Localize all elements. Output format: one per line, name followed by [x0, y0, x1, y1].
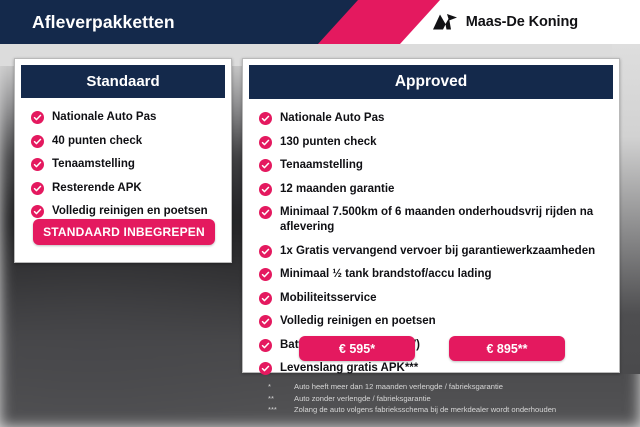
standard-included-button[interactable]: STANDAARD INBEGREPEN: [33, 219, 215, 245]
maas-de-koning-m-logo-icon: [432, 13, 458, 31]
feature-label: Resterende APK: [52, 181, 142, 196]
list-item: Levenslang gratis APK***: [259, 361, 619, 376]
list-item: Mobiliteitsservice: [259, 291, 619, 306]
check-icon: [259, 112, 272, 125]
list-item: Volledig reinigen en poetsen: [31, 204, 231, 219]
list-item: Tenaamstelling: [31, 157, 231, 172]
feature-label: Nationale Auto Pas: [52, 110, 156, 125]
brand-name: Maas-De Koning: [466, 14, 578, 30]
check-icon: [259, 183, 272, 196]
price-button-895[interactable]: € 895**: [449, 336, 565, 361]
list-item: 12 maanden garantie: [259, 182, 619, 197]
footnote-row: * Auto heeft meer dan 12 maanden verleng…: [268, 381, 628, 393]
price-button-595[interactable]: € 595*: [299, 336, 415, 361]
footnote-row: ** Auto zonder verlengde / fabrieksgaran…: [268, 393, 628, 405]
feature-label: Levenslang gratis APK***: [280, 361, 418, 376]
check-icon: [31, 205, 44, 218]
check-icon: [259, 206, 272, 219]
feature-label: Tenaamstelling: [52, 157, 135, 172]
list-item: Volledig reinigen en poetsen: [259, 314, 619, 329]
approved-card-title: Approved: [249, 65, 613, 99]
brand-lockup: Maas-De Koning: [432, 0, 578, 44]
list-item: Nationale Auto Pas: [259, 111, 619, 126]
list-item: Resterende APK: [31, 181, 231, 196]
feature-label: Nationale Auto Pas: [280, 111, 384, 126]
list-item: 130 punten check: [259, 135, 619, 150]
check-icon: [31, 158, 44, 171]
footnote-marker: *: [268, 381, 294, 393]
feature-label: 40 punten check: [52, 134, 142, 149]
footnote-marker: **: [268, 393, 294, 405]
check-icon: [259, 136, 272, 149]
list-item: Minimaal ½ tank brandstof/accu lading: [259, 267, 619, 282]
feature-label: 1x Gratis vervangend vervoer bij garanti…: [280, 244, 595, 259]
check-icon: [259, 292, 272, 305]
check-icon: [259, 268, 272, 281]
list-item: 1x Gratis vervangend vervoer bij garanti…: [259, 244, 619, 259]
check-icon: [259, 315, 272, 328]
list-item: Minimaal 7.500km of 6 maanden onderhouds…: [259, 205, 619, 235]
footnote-text: Auto zonder verlengde / fabrieksgarantie: [294, 393, 431, 405]
check-icon: [31, 111, 44, 124]
approved-package-card: Approved Nationale Auto Pas 130 punten c…: [242, 58, 620, 373]
feature-label: Mobiliteitsservice: [280, 291, 377, 306]
list-item: Nationale Auto Pas: [31, 110, 231, 125]
feature-label: 12 maanden garantie: [280, 182, 394, 197]
price-button-row: € 595* € 895**: [243, 336, 621, 361]
feature-label: Tenaamstelling: [280, 158, 363, 173]
list-item: 40 punten check: [31, 134, 231, 149]
feature-label: 130 punten check: [280, 135, 377, 150]
feature-label: Volledig reinigen en poetsen: [280, 314, 436, 329]
check-icon: [259, 245, 272, 258]
standard-package-card: Standaard Nationale Auto Pas 40 punten c…: [14, 58, 232, 263]
standard-feature-list: Nationale Auto Pas 40 punten check Tenaa…: [31, 110, 231, 219]
feature-label: Minimaal ½ tank brandstof/accu lading: [280, 267, 492, 282]
page-root: Afleverpakketten Maas-De Koning Standaar…: [0, 0, 640, 427]
check-icon: [259, 362, 272, 375]
footnote-block: * Auto heeft meer dan 12 maanden verleng…: [268, 381, 628, 416]
footnote-marker: ***: [268, 404, 294, 416]
standard-card-title: Standaard: [21, 65, 225, 98]
footnote-text: Auto heeft meer dan 12 maanden verlengde…: [294, 381, 503, 393]
check-icon: [31, 182, 44, 195]
feature-label: Volledig reinigen en poetsen: [52, 204, 208, 219]
page-header: Afleverpakketten Maas-De Koning: [0, 0, 640, 44]
feature-label: Minimaal 7.500km of 6 maanden onderhouds…: [280, 205, 619, 235]
footnote-row: *** Zolang de auto volgens fabrieksschem…: [268, 404, 628, 416]
list-item: Tenaamstelling: [259, 158, 619, 173]
footnote-text: Zolang de auto volgens fabrieksschema bi…: [294, 404, 556, 416]
check-icon: [31, 135, 44, 148]
check-icon: [259, 159, 272, 172]
page-title: Afleverpakketten: [32, 0, 175, 44]
